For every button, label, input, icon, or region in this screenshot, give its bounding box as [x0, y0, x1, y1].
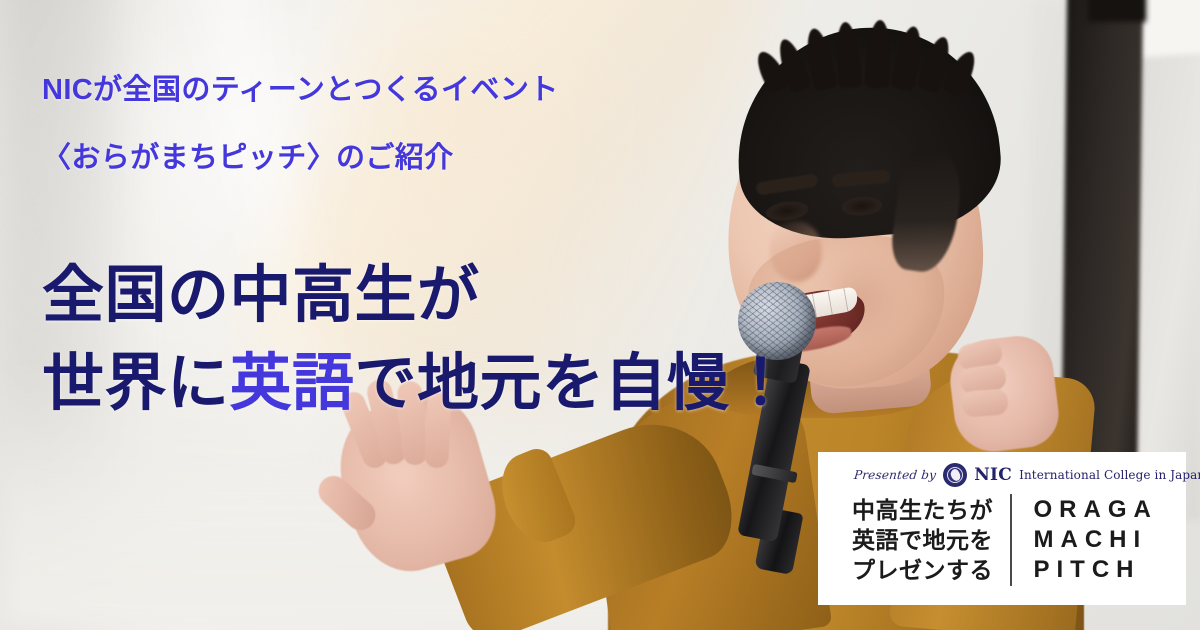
badge-english-title: ORAGA MACHI PITCH: [1012, 495, 1158, 585]
headline-highlight-eigo: 英語: [230, 349, 355, 418]
badge-japanese-tagline: 中高生たちが 英語で地元を プレゼンする: [852, 495, 1010, 585]
badge-presented-row: Presented by NIC International College i…: [818, 461, 1186, 489]
nic-crest-icon: [943, 463, 967, 487]
hair-spike: [833, 21, 863, 89]
headline-line-2-after: で地元を自慢！: [355, 349, 793, 418]
nic-full-name-label: International College in Japan: [1019, 468, 1200, 482]
headline-line-1: 全国の中高生が: [42, 252, 802, 340]
headline-copy-block: NICが全国のティーンとつくるイベント 〈おらがまちピッチ〉のご紹介 全国の中高…: [42, 0, 802, 630]
headline-line-2-before: 世界に: [42, 349, 230, 418]
knuckle: [961, 388, 1009, 417]
presented-by-label: Presented by: [853, 468, 937, 482]
nic-abbrev-label: NIC: [974, 467, 1012, 484]
hair-spike: [864, 19, 893, 88]
event-promo-banner: NICが全国のティーンとつくるイベント 〈おらがまちピッチ〉のご紹介 全国の中高…: [0, 0, 1200, 630]
sponsor-logo-badge: Presented by NIC International College i…: [818, 452, 1186, 605]
event-subtitle: NICが全国のティーンとつくるイベント 〈おらがまちピッチ〉のご紹介: [42, 56, 782, 192]
door-right-wall: [1134, 0, 1200, 520]
main-headline: 全国の中高生が 世界に英語で地元を自慢！: [42, 252, 802, 428]
headline-line-2: 世界に英語で地元を自慢！: [42, 340, 802, 428]
badge-main-row: 中高生たちが 英語で地元を プレゼンする ORAGA MACHI PITCH: [818, 489, 1186, 586]
